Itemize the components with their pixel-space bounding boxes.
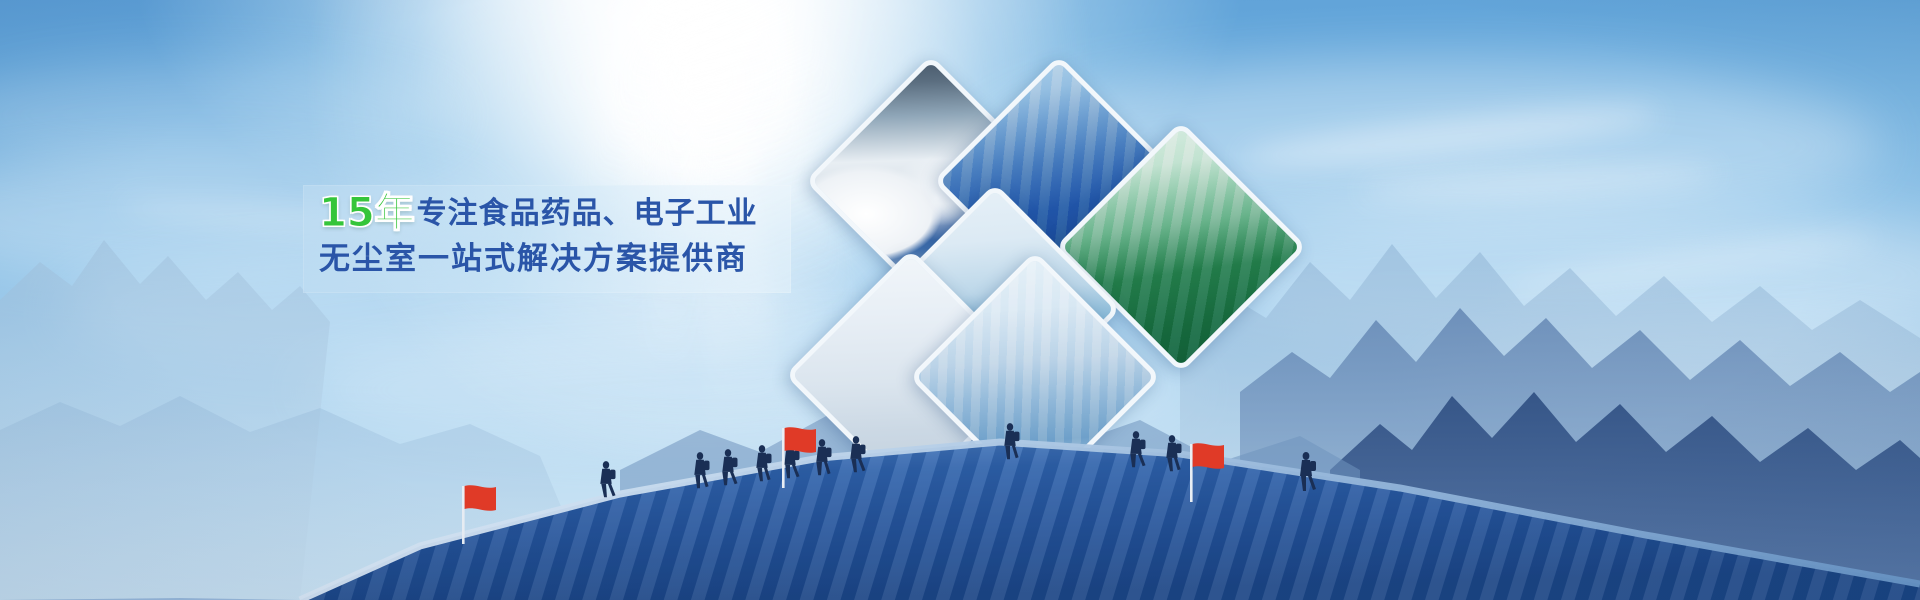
headline-line-1: 15年专注食品药品、电子工业 <box>319 194 758 233</box>
headline-line-2: 无尘室一站式解决方案提供商 <box>319 239 748 279</box>
headline-line-1-rest: 专注食品药品、电子工业 <box>417 196 758 231</box>
hero-banner: 15年专注食品药品、电子工业 无尘室一站式解决方案提供商 <box>0 0 1920 600</box>
headline-panel: 15年专注食品药品、电子工业 无尘室一站式解决方案提供商 <box>303 185 791 293</box>
snow-ridge <box>0 370 1920 600</box>
years-highlight: 15年 <box>319 190 415 236</box>
